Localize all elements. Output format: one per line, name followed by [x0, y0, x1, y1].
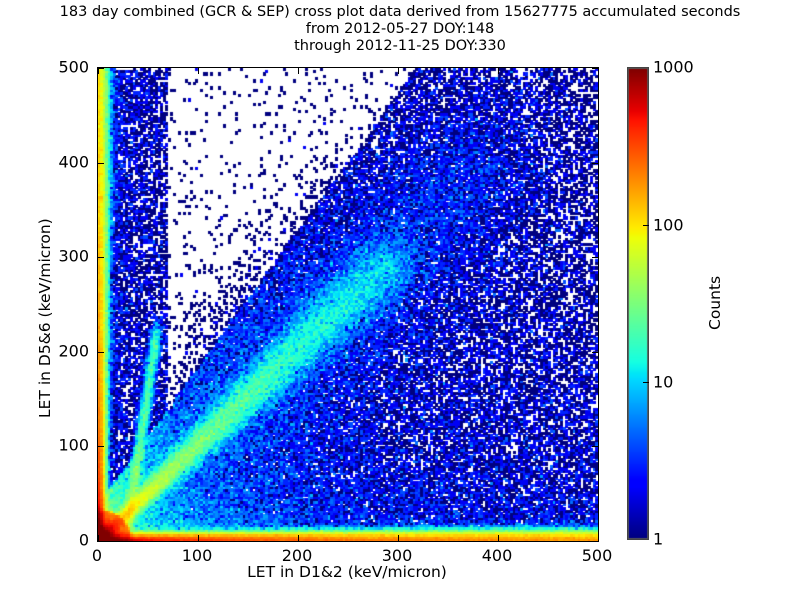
x-tick-top [198, 68, 199, 74]
y-axis-title: LET in D5&6 (keV/micron) [36, 218, 54, 418]
x-axis-title: LET in D1&2 (keV/micron) [97, 563, 597, 581]
y-tick-right [592, 163, 598, 164]
y-tick-right [592, 352, 598, 353]
y-tick-label: 100 [29, 436, 89, 455]
x-tick-top [98, 68, 99, 74]
y-tick [98, 352, 104, 353]
y-tick-right [592, 541, 598, 542]
title-line-3: through 2012-11-25 DOY:330 [0, 38, 800, 55]
colorbar-tick-label: 10 [653, 373, 673, 392]
y-tick [98, 163, 104, 164]
x-tick-top [498, 68, 499, 74]
x-tick [398, 535, 399, 541]
colorbar-gradient [627, 67, 649, 540]
colorbar-tick-label: 100 [653, 215, 684, 234]
x-tick-top [298, 68, 299, 74]
colorbar-tick-label: 1000 [653, 58, 694, 77]
x-tick [598, 535, 599, 541]
figure: 183 day combined (GCR & SEP) cross plot … [0, 0, 800, 600]
y-tick-right [592, 446, 598, 447]
y-tick [98, 446, 104, 447]
colorbar [627, 67, 649, 540]
y-tick-label: 400 [29, 152, 89, 171]
colorbar-title: Counts [706, 276, 724, 330]
x-tick [298, 535, 299, 541]
x-tick [98, 535, 99, 541]
colorbar-tick-label: 1 [653, 530, 663, 549]
colorbar-tick [643, 382, 649, 383]
x-tick [498, 535, 499, 541]
title-line-2: from 2012-05-27 DOY:148 [0, 21, 800, 38]
scatter-heatmap-canvas [98, 68, 598, 541]
x-tick-top [398, 68, 399, 74]
plot-area [97, 67, 599, 542]
colorbar-tick [643, 225, 649, 226]
x-tick [198, 535, 199, 541]
y-tick [98, 257, 104, 258]
title-line-1: 183 day combined (GCR & SEP) cross plot … [0, 4, 800, 21]
x-tick-top [598, 68, 599, 74]
y-tick-right [592, 257, 598, 258]
y-tick [98, 541, 104, 542]
figure-title: 183 day combined (GCR & SEP) cross plot … [0, 4, 800, 55]
y-tick-label: 500 [29, 58, 89, 77]
